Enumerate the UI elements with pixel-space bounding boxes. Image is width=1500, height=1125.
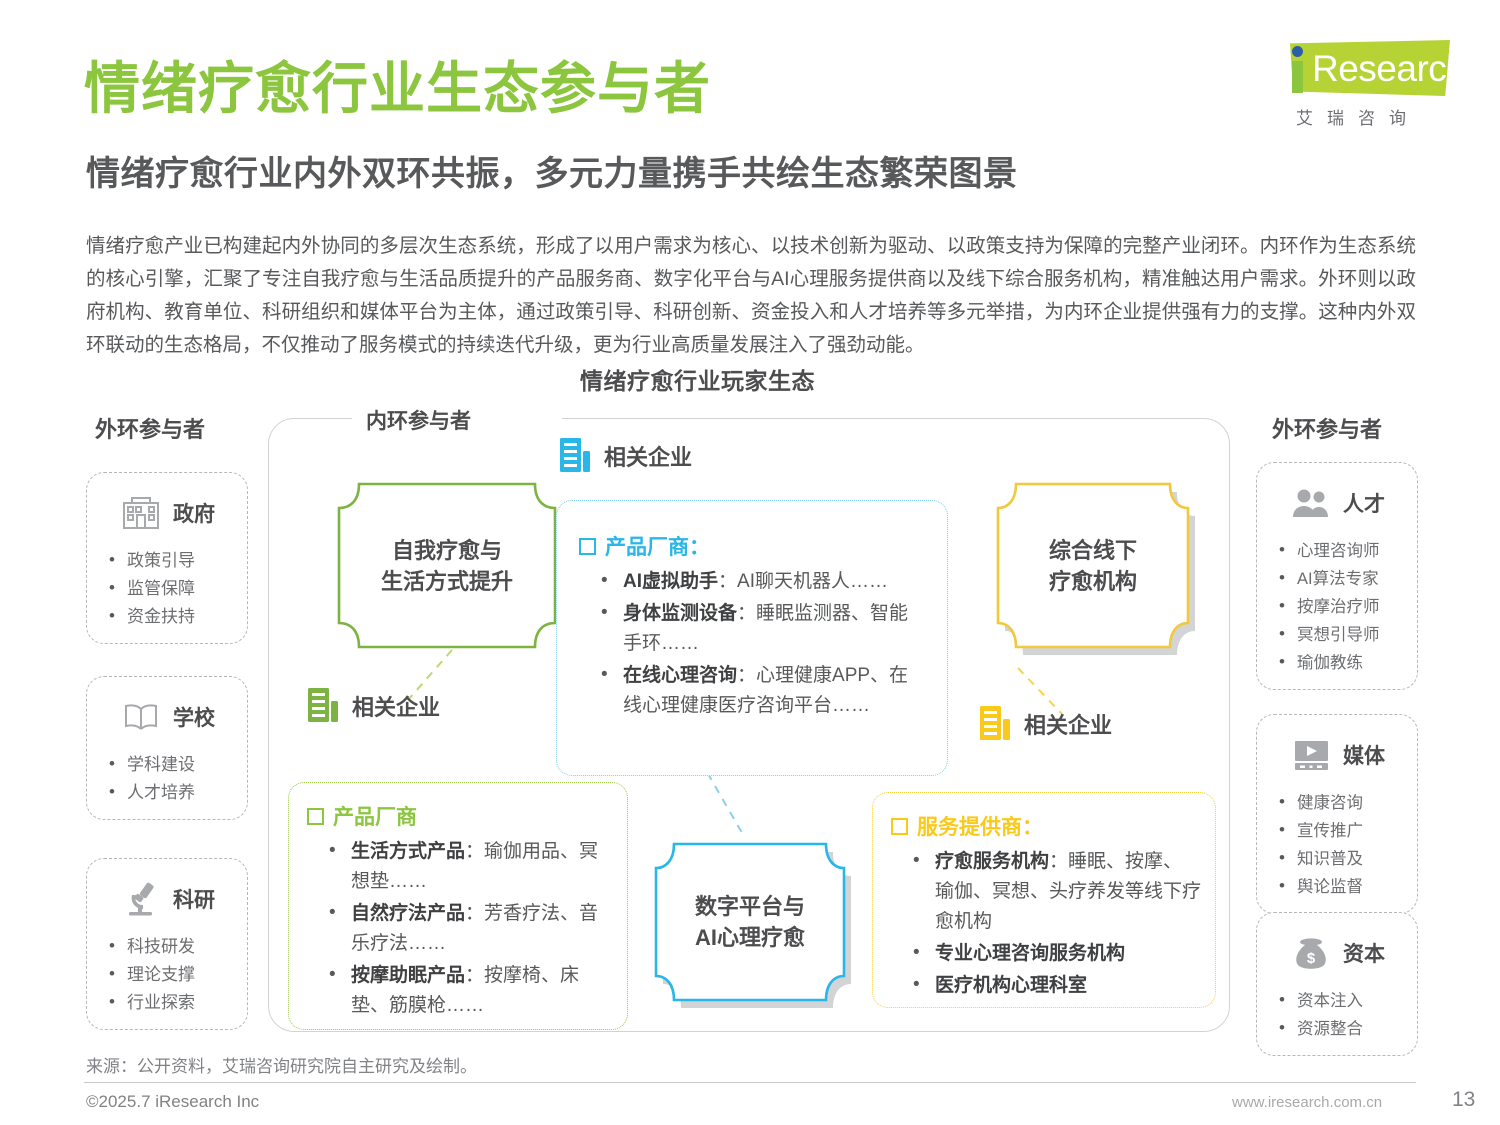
node-label: 自我疗愈与 生活方式提升 xyxy=(381,535,513,597)
list-item: 按摩助眠产品：按摩椅、床垫、筋膜枪…… xyxy=(325,961,611,1021)
list-item: AI虚拟助手：AI聊天机器人…… xyxy=(597,567,927,597)
copyright-text: ©2025.7 iResearch Inc xyxy=(86,1092,259,1112)
page-number: 13 xyxy=(1452,1088,1475,1112)
panel-heading: 产品厂商： xyxy=(579,531,927,561)
list-item: 疗愈服务机构：睡眠、按摩、瑜伽、冥想、头疗养发等线下疗愈机构 xyxy=(909,847,1201,937)
item-term: 生活方式产品 xyxy=(351,841,465,862)
square-bullet-icon xyxy=(307,808,324,825)
item-term: AI虚拟助手 xyxy=(623,571,718,592)
panel-heading: 服务提供商： xyxy=(891,811,1201,841)
panel-list: 生活方式产品：瑜伽用品、冥想垫…… 自然疗法产品：芳香疗法、音乐疗法…… 按摩助… xyxy=(307,837,611,1021)
slide-page: Research 艾瑞咨询 情绪疗愈行业生态参与者 情绪疗愈行业内外双环共振，多… xyxy=(0,0,1500,1125)
tag-label: 相关企业 xyxy=(352,690,440,722)
item-term: 自然疗法产品 xyxy=(351,903,465,924)
panel-list: AI虚拟助手：AI聊天机器人…… 身体监测设备：睡眠监测器、智能手环…… 在线心… xyxy=(579,567,927,721)
website-url[interactable]: www.iresearch.com.cn xyxy=(1232,1094,1382,1111)
node-label-line2: 疗愈机构 xyxy=(1049,566,1137,597)
item-desc: ：AI聊天机器人…… xyxy=(718,571,888,592)
item-term: 专业心理咨询服务机构 xyxy=(935,943,1125,964)
panel-product-manufacturers-blue[interactable]: 产品厂商： AI虚拟助手：AI聊天机器人…… 身体监测设备：睡眠监测器、智能手环… xyxy=(556,500,948,776)
tag-label: 相关企业 xyxy=(604,440,692,472)
node-offline-institutions[interactable]: 综合线下 疗愈机构 xyxy=(992,478,1194,653)
building-icon xyxy=(978,704,1012,744)
square-bullet-icon xyxy=(579,538,596,555)
node-label-line1: 数字平台与 xyxy=(695,891,805,922)
panel-heading-text: 产品厂商 xyxy=(333,801,417,831)
node-label: 数字平台与 AI心理疗愈 xyxy=(695,891,805,953)
footer-divider xyxy=(84,1082,1416,1083)
panel-heading-text: 产品厂商： xyxy=(605,531,710,561)
building-icon xyxy=(558,436,592,476)
list-item: 生活方式产品：瑜伽用品、冥想垫…… xyxy=(325,837,611,897)
item-term: 按摩助眠产品 xyxy=(351,965,465,986)
item-term: 在线心理咨询 xyxy=(623,665,737,686)
list-item: 自然疗法产品：芳香疗法、音乐疗法…… xyxy=(325,899,611,959)
source-note: 来源：公开资料，艾瑞咨询研究院自主研究及绘制。 xyxy=(86,1052,477,1077)
list-item: 医疗机构心理科室 xyxy=(909,971,1201,1001)
node-label-line2: AI心理疗愈 xyxy=(695,922,805,953)
tag-related-companies-blue: 相关企业 xyxy=(558,436,692,476)
panel-heading-text: 服务提供商： xyxy=(917,811,1043,841)
item-term: 身体监测设备 xyxy=(623,603,737,624)
square-bullet-icon xyxy=(891,818,908,835)
node-digital-platform[interactable]: 数字平台与 AI心理疗愈 xyxy=(650,838,850,1006)
panel-heading: 产品厂商 xyxy=(307,801,611,831)
node-label: 综合线下 疗愈机构 xyxy=(1049,535,1137,597)
node-self-healing[interactable]: 自我疗愈与 生活方式提升 xyxy=(333,478,561,653)
list-item: 身体监测设备：睡眠监测器、智能手环…… xyxy=(597,599,927,659)
list-item: 专业心理咨询服务机构 xyxy=(909,939,1201,969)
panel-service-providers-yellow[interactable]: 服务提供商： 疗愈服务机构：睡眠、按摩、瑜伽、冥想、头疗养发等线下疗愈机构 专业… xyxy=(872,792,1216,1008)
tag-label: 相关企业 xyxy=(1024,708,1112,740)
node-label-line2: 生活方式提升 xyxy=(381,566,513,597)
tag-related-companies-green: 相关企业 xyxy=(306,686,440,726)
list-item: 在线心理咨询：心理健康APP、在线心理健康医疗咨询平台…… xyxy=(597,661,927,721)
node-label-line1: 自我疗愈与 xyxy=(381,535,513,566)
item-term: 医疗机构心理科室 xyxy=(935,975,1087,996)
panel-list: 疗愈服务机构：睡眠、按摩、瑜伽、冥想、头疗养发等线下疗愈机构 专业心理咨询服务机… xyxy=(891,847,1201,1001)
tag-related-companies-yellow: 相关企业 xyxy=(978,704,1112,744)
item-term: 疗愈服务机构 xyxy=(935,851,1049,872)
node-label-line1: 综合线下 xyxy=(1049,535,1137,566)
building-icon xyxy=(306,686,340,726)
panel-product-manufacturers-green[interactable]: 产品厂商 生活方式产品：瑜伽用品、冥想垫…… 自然疗法产品：芳香疗法、音乐疗法…… xyxy=(288,782,628,1030)
